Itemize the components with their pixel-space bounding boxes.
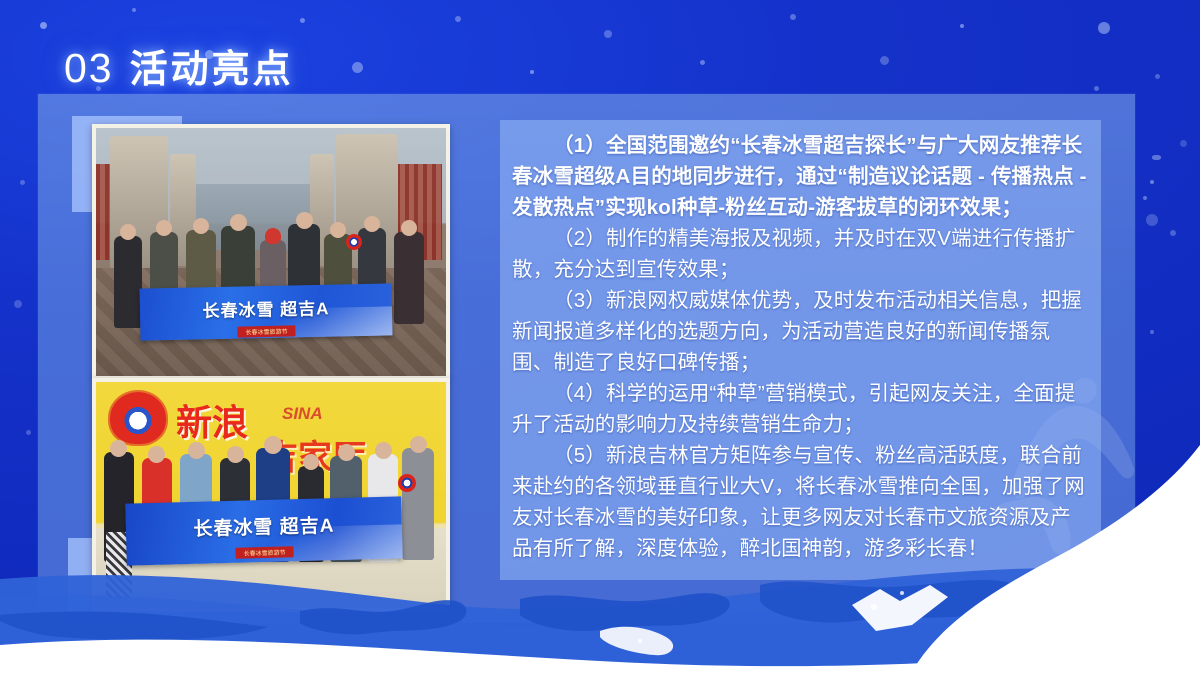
photo-2-person-head <box>110 440 127 457</box>
section-number: 03 <box>64 45 114 92</box>
white-corner-cut <box>870 445 1200 675</box>
slide-canvas: 03 活动亮点 <box>0 0 1200 675</box>
photo-1-person-head <box>330 222 346 238</box>
photo-gate-group[interactable]: 长春冰雪 超吉A 长春冰雪旅游节 <box>92 124 450 380</box>
photo-2-banner-text: 长春冰雪 超吉A <box>193 511 335 542</box>
photo-2-person-head <box>410 436 427 453</box>
photo-2-person-head <box>148 446 165 463</box>
photo-2-person-head <box>227 446 244 463</box>
highlight-paragraph-4: （4）科学的运用“种草”营销模式，引起网友关注，全面提升了活动的影响力及持续营销… <box>512 378 1087 440</box>
photo-2-backdrop-text-en: SINA <box>282 404 323 424</box>
photo-1-person-head <box>156 220 172 236</box>
photo-2-person-head <box>375 442 392 459</box>
photo-1-banner: 长春冰雪 超吉A 长春冰雪旅游节 <box>139 283 392 340</box>
photo-2-backdrop-text-cn: 新浪 <box>176 394 248 446</box>
section-title: 活动亮点 <box>130 38 294 93</box>
photo-2-mic-flag <box>398 474 416 492</box>
highlight-paragraph-1: （1）全国范围邀约“长春冰雪超吉探长”与广大网友推荐长春冰雪超级A目的地同步进行… <box>512 130 1087 223</box>
photo-1-person-head <box>364 216 380 232</box>
sina-eye-logo-icon <box>110 392 166 444</box>
photo-1-person-head <box>401 220 417 236</box>
photo-2-person-head <box>338 444 355 461</box>
photo-1-person-head <box>296 212 313 229</box>
page-title: 03 活动亮点 <box>64 38 294 93</box>
highlight-paragraph-3: （3）新浪网权威媒体优势，及时发布活动相关信息，把握新闻报道多样化的选题方向，为… <box>512 285 1087 378</box>
photo-1-person-head <box>193 218 209 234</box>
photo-1-person-head <box>230 214 247 231</box>
photo-2-person-head <box>264 436 282 454</box>
highlight-paragraph-2: （2）制作的精美海报及视频，并及时在双V端进行传播扩散，充分达到宣传效果； <box>512 223 1087 285</box>
photo-2-person-head <box>303 454 319 470</box>
photo-1-mic-flag <box>346 234 362 250</box>
photo-1-banner-subtitle: 长春冰雪旅游节 <box>237 325 295 337</box>
photo-2-person-head <box>188 442 205 459</box>
photo-2-person <box>402 448 434 560</box>
photo-1-person-head <box>120 224 136 240</box>
photo-1-person-head <box>265 228 281 244</box>
photo-1-person <box>394 232 424 324</box>
photo-1-person <box>114 236 142 328</box>
photo-1-banner-text: 长春冰雪 超吉A <box>202 294 329 322</box>
